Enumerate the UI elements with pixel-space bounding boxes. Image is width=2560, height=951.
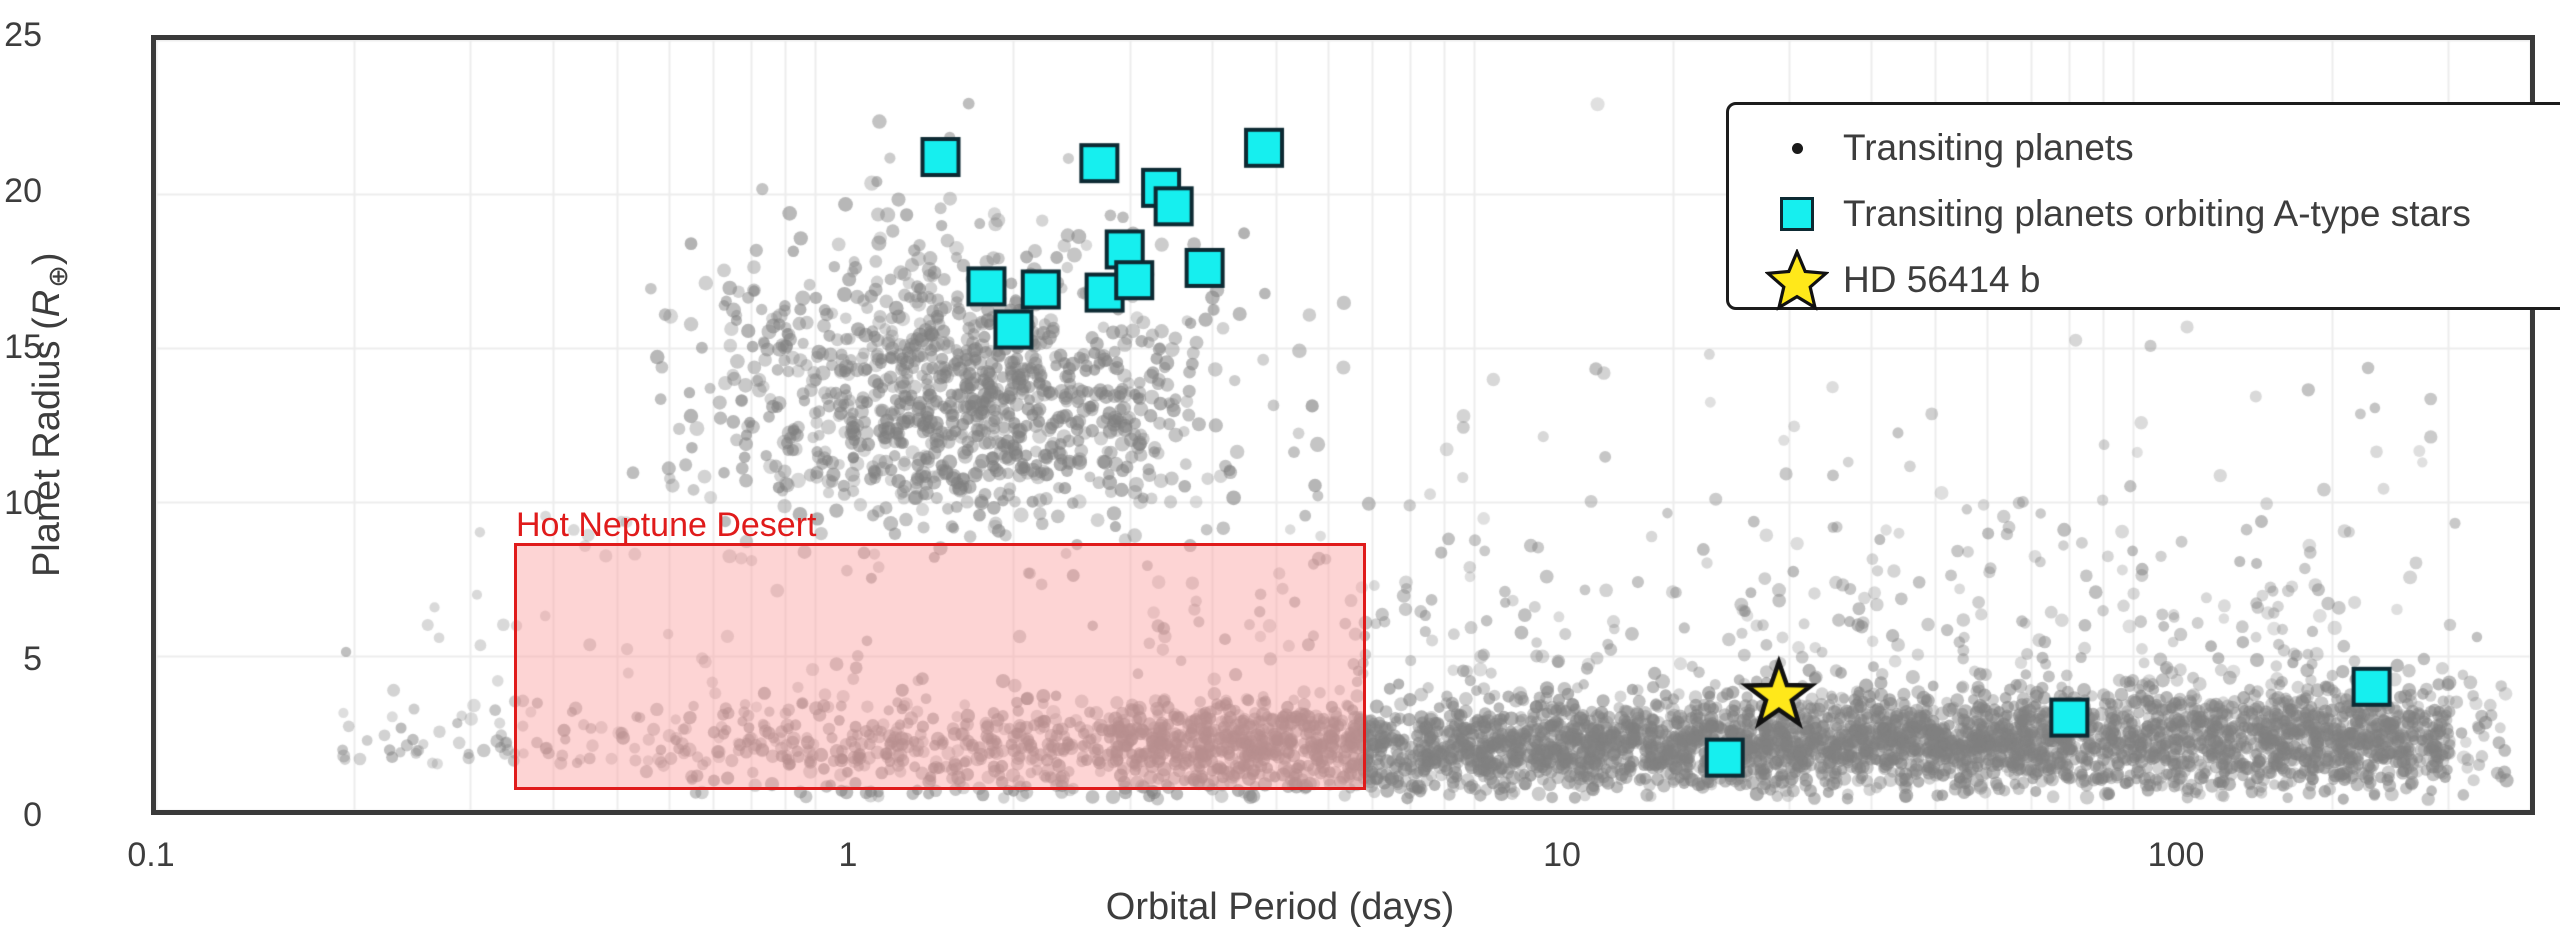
xtick-label-100: 100: [2148, 838, 2205, 872]
legend-item-hd-56414-b[interactable]: HD 56414 b: [1729, 247, 2560, 313]
legend-item-transiting-planets[interactable]: Transiting planets: [1729, 115, 2560, 181]
ytick-label-0: 0: [23, 798, 42, 832]
y-axis-subscript: ⊕: [43, 265, 73, 290]
y-axis-title-text: Planet Radius (: [26, 317, 68, 577]
legend-label-1: Transiting planets orbiting A-type stars: [1843, 193, 2471, 235]
legend-item-a-type-stars[interactable]: Transiting planets orbiting A-type stars: [1729, 181, 2560, 247]
legend-label-0: Transiting planets: [1843, 127, 2134, 169]
plot-area: Hot Neptune Desert Transiting planets Tr…: [151, 35, 2535, 815]
legend-key-square: [1751, 197, 1843, 231]
legend-key-star: [1751, 249, 1843, 311]
hot-neptune-desert-label: Hot Neptune Desert: [516, 506, 817, 545]
y-axis-symbol: R: [26, 290, 68, 317]
legend-box: Transiting planets Transiting planets or…: [1726, 102, 2560, 310]
cyan-square-icon: [1780, 197, 1814, 231]
xtick-label-1: 1: [839, 838, 858, 872]
y-axis-title: Planet Radius (R⊕): [26, 35, 74, 795]
legend-key-dot: [1751, 143, 1843, 154]
figure-root: 25 20 15 10 5 0 0.1 1 10 100 Orbital Per…: [0, 0, 2560, 951]
y-axis-title-close: ): [26, 253, 68, 266]
hot-neptune-desert-box: [514, 543, 1366, 790]
legend-label-2: HD 56414 b: [1843, 259, 2040, 301]
xtick-label-0.1: 0.1: [127, 838, 174, 872]
small-dot-icon: [1792, 143, 1803, 154]
x-axis-title: Orbital Period (days): [0, 886, 2560, 929]
yellow-star-icon: [1765, 249, 1829, 311]
xtick-label-10: 10: [1543, 838, 1581, 872]
